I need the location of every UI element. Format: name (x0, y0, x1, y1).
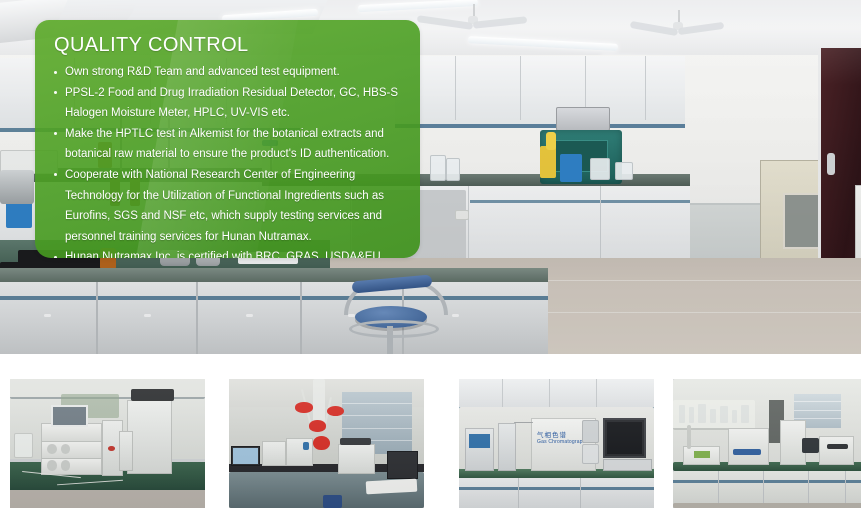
balance-arm (687, 425, 691, 448)
hplc-knob (47, 444, 57, 454)
keyboard (603, 459, 652, 471)
hplc-knob (61, 460, 71, 470)
stool-post (387, 326, 393, 354)
instrument-display (556, 107, 610, 131)
instrument-dark-top (340, 438, 371, 444)
list-item: Make the HPTLC test in Alkemist for the … (52, 124, 404, 165)
papers (365, 478, 416, 494)
injector-unit (498, 423, 516, 471)
list-item: PPSL-2 Food and Drug Irradiation Residua… (52, 83, 404, 124)
instrument-panel (303, 442, 309, 450)
autosampler-top (131, 389, 174, 401)
glassware (430, 155, 446, 181)
autosampler (127, 400, 172, 474)
red-heat-lamp (295, 402, 313, 412)
yellow-bottle (540, 146, 556, 178)
list-item: Cooperate with National Research Center … (52, 165, 404, 247)
steel-vessel (0, 170, 34, 204)
hplc-display (51, 405, 88, 427)
bench-cabinets (459, 478, 654, 508)
upper-cabinets-right (395, 56, 685, 128)
monitor (231, 446, 260, 466)
ceiling-column (313, 379, 325, 425)
instrument (262, 441, 285, 466)
instrument (338, 444, 375, 474)
cabinet-handle-band (470, 200, 690, 203)
quality-control-list: Own strong R&D Team and advanced test eq… (52, 62, 404, 258)
monitor (387, 451, 418, 479)
gallery-strip: 气相色谱 Gas Chromatograph (0, 379, 861, 508)
instrument-screen (802, 438, 820, 452)
wall-socket (455, 210, 469, 220)
computer-monitor (603, 418, 646, 458)
page-title: QUALITY CONTROL (54, 32, 404, 58)
quality-control-card: QUALITY CONTROL Own strong R&D Team and … (35, 20, 420, 258)
glassware (446, 158, 460, 181)
red-heat-lamp (309, 420, 327, 432)
chair (323, 495, 343, 508)
glassware (14, 433, 34, 458)
list-item: Own strong R&D Team and advanced test eq… (52, 62, 404, 83)
gc-label: 气相色谱 Gas Chromatograph (537, 433, 586, 445)
hplc-knob (61, 444, 71, 454)
ceiling-fan (630, 10, 726, 36)
hplc-knob (47, 460, 57, 470)
column-oven (119, 431, 133, 472)
bench-instrument (819, 436, 854, 465)
front-bench-cabinets (0, 282, 548, 354)
glassware (590, 158, 610, 180)
hero-image: QUALITY CONTROL Own strong R&D Team and … (0, 0, 861, 354)
bench-instrument (728, 428, 769, 465)
gallery-item-lamps[interactable] (229, 379, 424, 508)
gallery-item-gas-chromatograph[interactable]: 气相色谱 Gas Chromatograph (459, 379, 654, 508)
power-supply-unit (465, 428, 494, 471)
gas-line (514, 422, 534, 423)
floor (673, 503, 861, 508)
instrument-panel (733, 449, 760, 455)
instrument-dark-slot (827, 444, 848, 449)
gc-control-panel (582, 420, 600, 443)
ceiling-fan (418, 4, 528, 32)
upper-cabinets (459, 379, 654, 410)
red-heat-lamp (313, 436, 331, 450)
gc-keypad (582, 444, 600, 464)
yellow-funnel (546, 132, 556, 150)
gallery-item-balance[interactable] (673, 379, 861, 508)
glassware (615, 162, 633, 180)
balance-display (694, 451, 710, 457)
quality-control-page: QUALITY CONTROL Own strong R&D Team and … (0, 0, 861, 508)
floor (10, 490, 205, 508)
gallery-item-hplc[interactable] (10, 379, 205, 508)
stool-ring (349, 320, 439, 338)
blue-container (560, 154, 582, 182)
list-item: Hunan Nutramax Inc. is certified with BR… (52, 247, 404, 258)
